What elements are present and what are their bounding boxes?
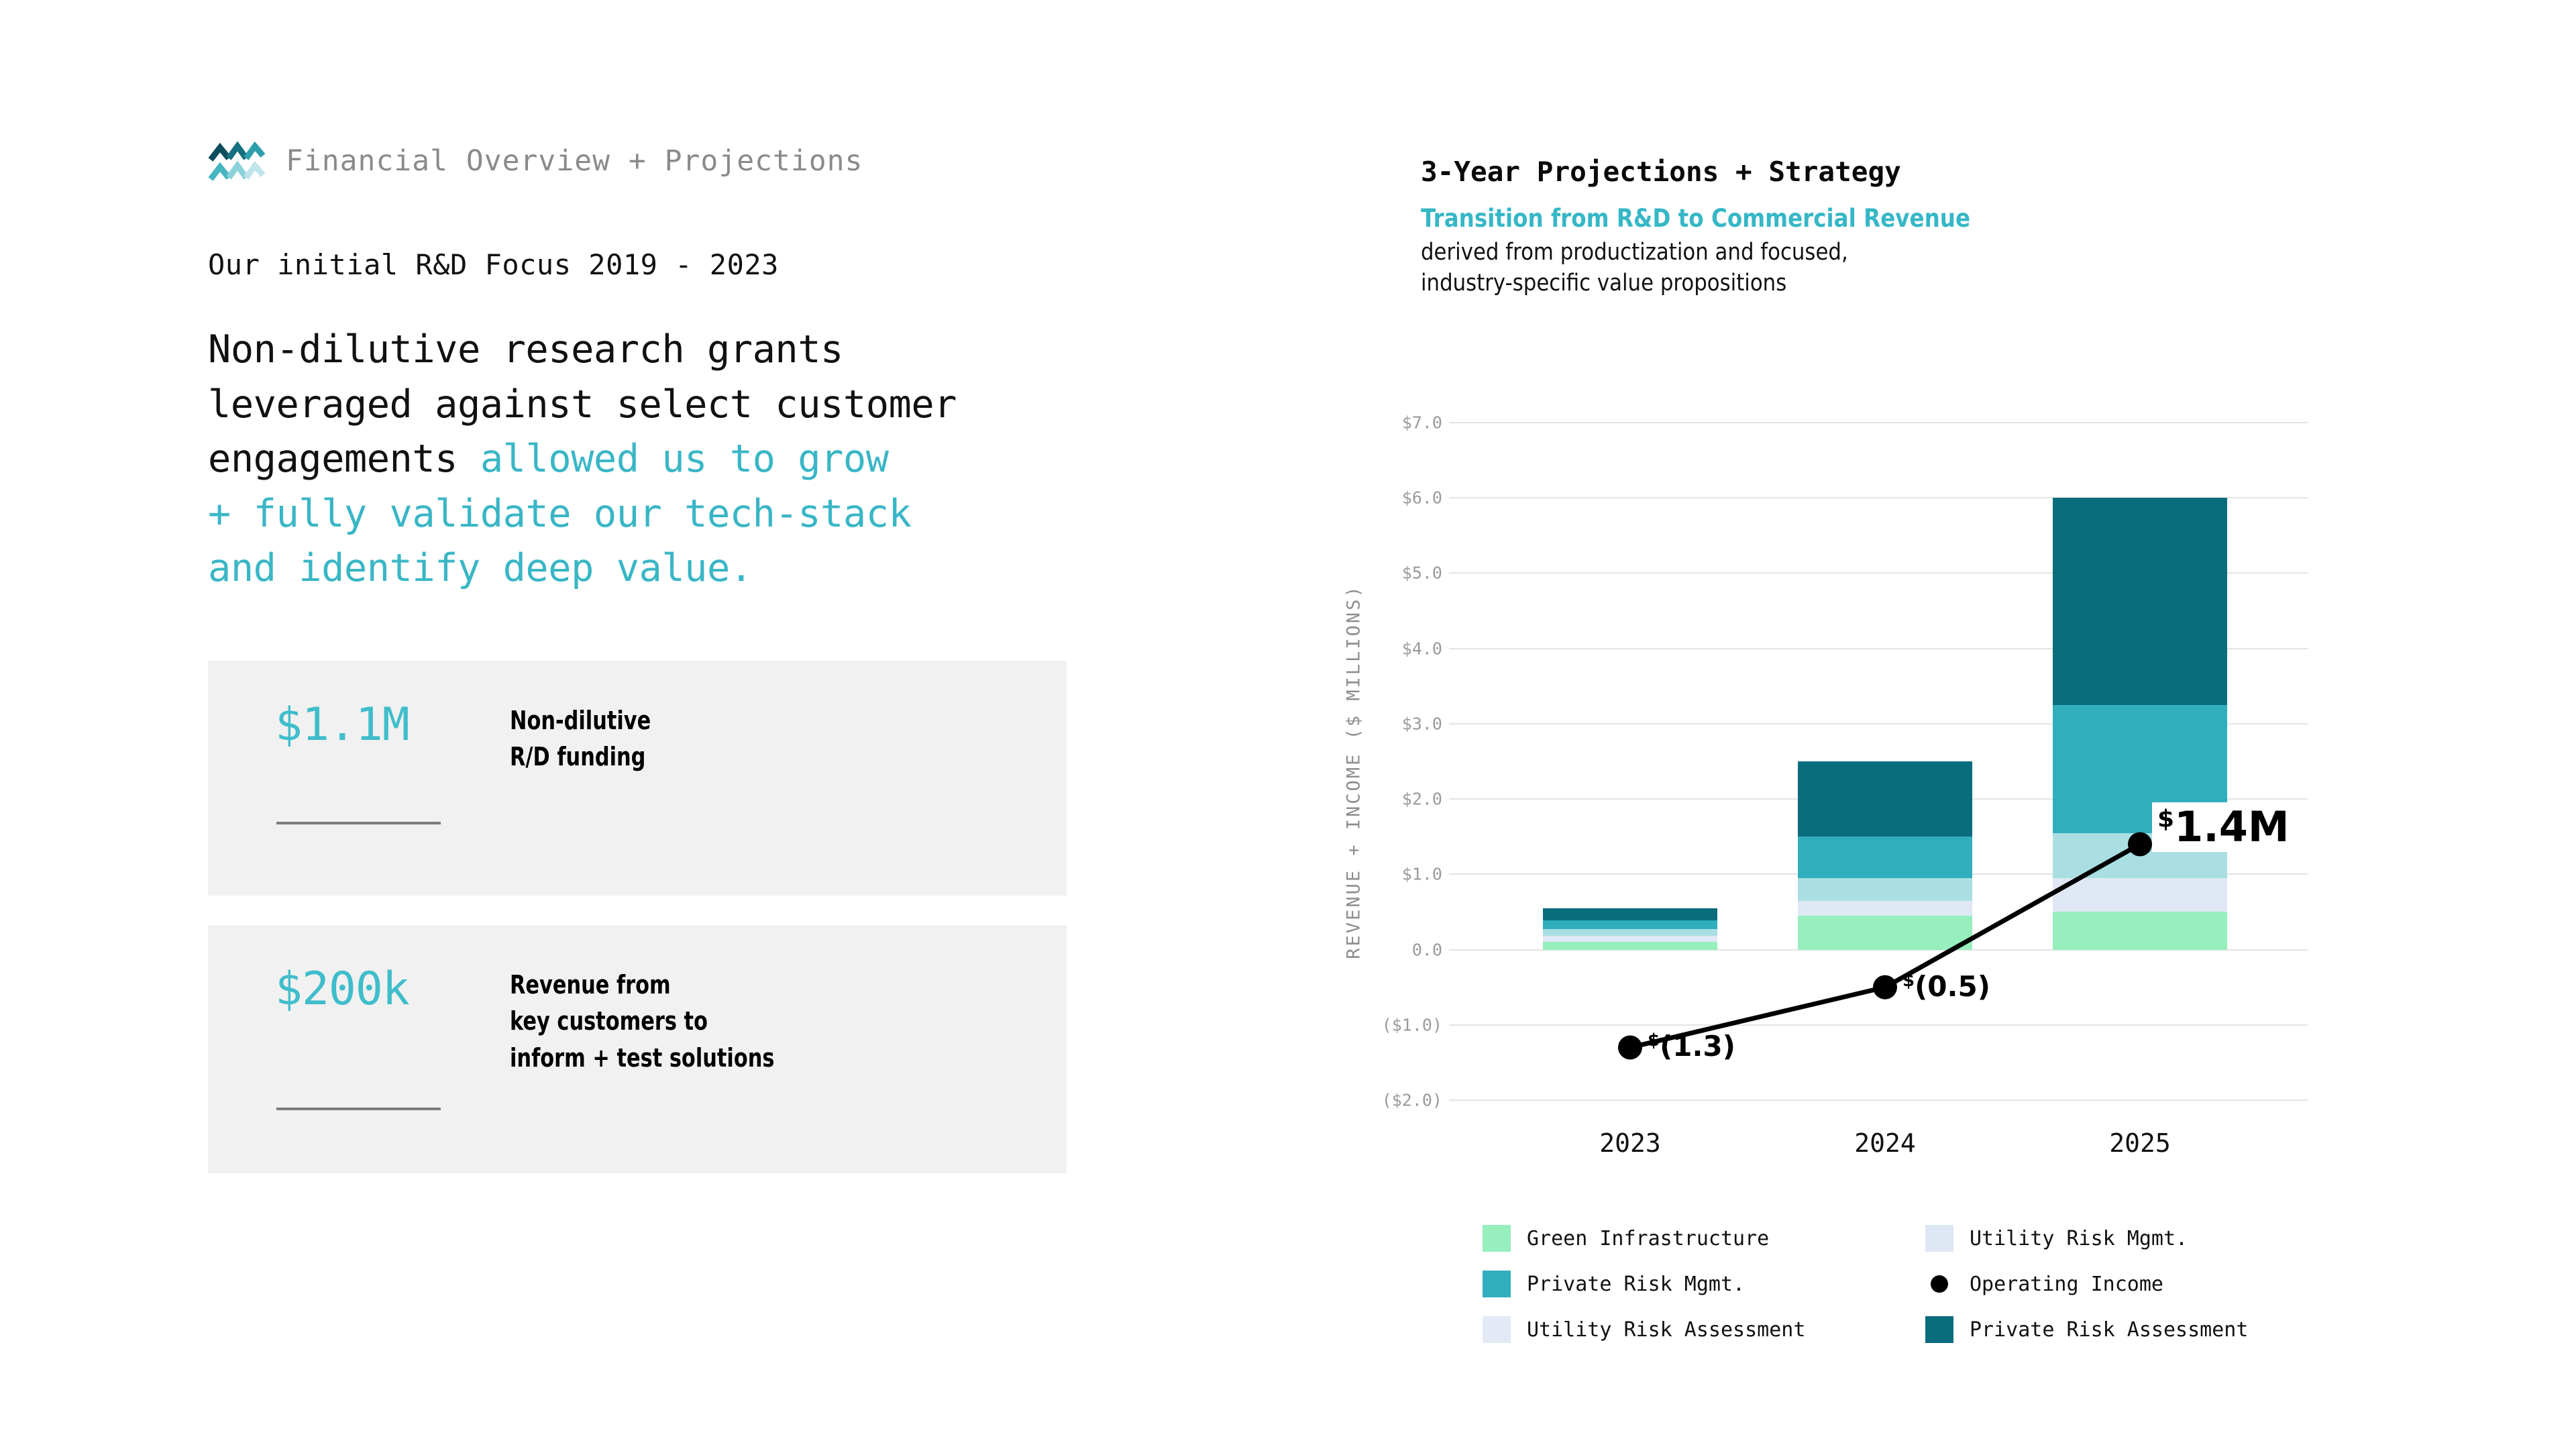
y-axis-tick-label: $6.0 [1308,488,1442,508]
operating-income-point[interactable] [2128,832,2152,856]
lede-plain: engagements [208,437,480,481]
y-axis-tick-label: $3.0 [1308,714,1442,733]
legend-item[interactable]: Private Risk Mgmt. [1483,1261,1805,1307]
left-column: Financial Overview + Projections Our ini… [208,134,1080,1173]
y-axis-tick-label: ($2.0) [1308,1091,1442,1110]
lede-plain: Non-dilutive research grants [208,327,843,372]
brand-header: Financial Overview + Projections [208,134,1080,188]
y-axis-tick-label: ($1.0) [1308,1015,1442,1034]
x-axis-tick-label: 2024 [1798,1128,1972,1158]
operating-income-label: $(1.3) [1648,1030,1735,1063]
right-column-header: 3-Year Projections + Strategy Transition… [1421,156,2494,299]
operating-income-callout: $1.4M [2152,802,2295,851]
stat-label-line: key customers to [510,1003,774,1040]
y-axis-tick-label: $4.0 [1308,639,1442,658]
projections-chart: REVENUE + INCOME ($ MILLIONS) $7.0$6.0$5… [1315,423,2402,1167]
lede-plain: leveraged against select customer [208,382,957,427]
legend-item[interactable]: Utility Risk Mgmt. [1925,1216,2248,1261]
operating-income-point[interactable] [1618,1035,1642,1059]
stat-label-line: R/D funding [510,739,651,775]
card-divider [276,822,441,824]
projections-title: 3-Year Projections + Strategy [1421,156,2494,188]
projections-body-line: industry-specific value propositions [1421,268,2365,299]
projections-body-line: derived from productization and focused, [1421,237,2365,268]
lede-line: + fully validate our tech-stack [208,487,1080,542]
operating-income-point[interactable] [1873,975,1897,1000]
legend-label: Operating Income [1970,1273,2163,1296]
legend-item[interactable]: Private Risk Assessment [1925,1307,2248,1352]
brand-title: Financial Overview + Projections [286,144,863,178]
lede-line: leveraged against select customer [208,378,1080,433]
legend-item[interactable]: Utility Risk Assessment [1483,1307,1805,1352]
stat-label: Non-dilutive R/D funding [510,702,651,775]
y-axis-tick-label: $7.0 [1308,413,1442,433]
legend-item[interactable]: Green Infrastructure [1483,1216,1805,1261]
stat-label-line: inform + test solutions [510,1040,774,1077]
y-axis-tick-label: $1.0 [1308,865,1442,884]
y-axis-tick-label: $2.0 [1308,790,1442,809]
lede-line: and identify deep value. [208,541,1080,596]
operating-income-line [1449,423,2308,1100]
legend-column-right: Utility Risk Mgmt.Operating IncomePrivat… [1925,1216,2248,1352]
legend-color-swatch [1925,1225,1953,1252]
operating-income-label: $(0.5) [1902,970,1990,1003]
legend-label: Utility Risk Mgmt. [1970,1227,2188,1250]
slide-canvas: Financial Overview + Projections Our ini… [0,0,2576,1449]
kicker-text: Our initial R&D Focus 2019 - 2023 [208,248,1080,281]
legend-label: Green Infrastructure [1527,1227,1769,1250]
y-axis-tick-label: 0.0 [1308,940,1442,959]
legend-color-swatch [1925,1316,1953,1343]
stat-card-revenue: $200k Revenue from key customers to info… [208,925,1067,1173]
stat-value: $1.1M [275,702,510,748]
card-divider [276,1108,441,1110]
lede-line: engagements allowed us to grow [208,432,1080,487]
legend-label: Private Risk Assessment [1970,1318,2248,1342]
projections-body: derived from productization and focused,… [1421,237,2365,299]
y-axis-tick-label: $5.0 [1308,563,1442,583]
legend-column-left: Green InfrastructurePrivate Risk Mgmt.Ut… [1483,1216,1805,1352]
legend-label: Utility Risk Assessment [1527,1318,1805,1342]
legend-item[interactable]: Operating Income [1925,1261,2248,1307]
lede-paragraph: Non-dilutive research grants leveraged a… [208,323,1080,596]
stat-label-line: Revenue from [510,967,774,1004]
stat-label: Revenue from key customers to inform + t… [510,967,774,1077]
x-axis-tick-label: 2023 [1543,1128,1717,1158]
projections-subtitle: Transition from R&D to Commercial Revenu… [1421,203,2365,234]
legend-color-swatch [1483,1316,1511,1343]
lede-line: Non-dilutive research grants [208,323,1080,378]
stat-value: $200k [275,967,510,1012]
zigzag-wave-logo-icon [208,138,266,184]
stat-card-funding: $1.1M Non-dilutive R/D funding [208,661,1067,896]
chart-plot-area: $7.0$6.0$5.0$4.0$3.0$2.0$1.00.0($1.0)($2… [1449,423,2308,1100]
lede-accent: and identify deep value. [208,546,753,590]
stat-label-line: Non-dilutive [510,702,651,739]
legend-label: Private Risk Mgmt. [1527,1273,1745,1296]
legend-color-swatch [1483,1271,1511,1297]
legend-color-swatch [1483,1225,1511,1252]
operating-income-dot-icon [1925,1271,1953,1297]
x-axis-tick-label: 2025 [2053,1128,2227,1158]
lede-accent: + fully validate our tech-stack [208,492,911,536]
lede-accent: allowed us to grow [480,437,889,481]
